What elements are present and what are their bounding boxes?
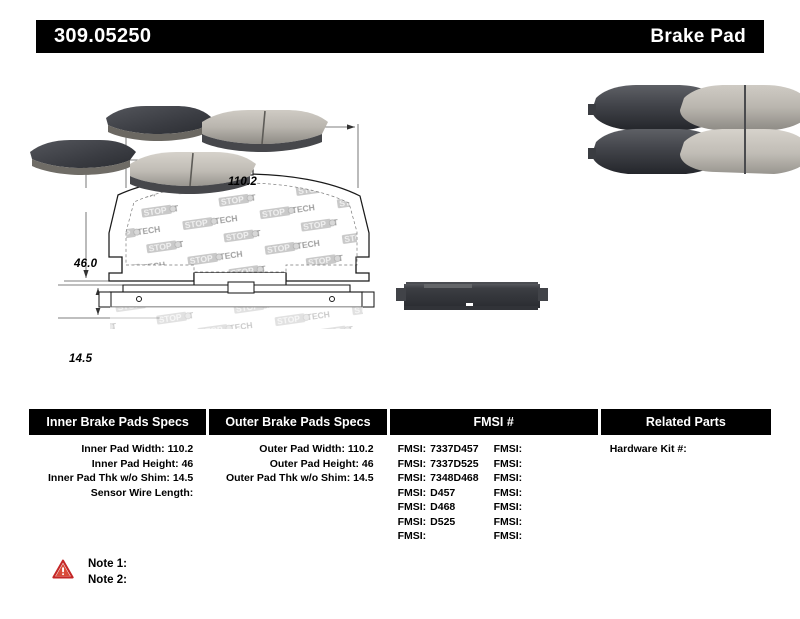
fmsi-value: D525: [426, 516, 455, 528]
fmsi-key: FMSI:: [398, 530, 427, 542]
fmsi-value: 7337D525: [426, 458, 478, 470]
fmsi-key: FMSI:: [494, 443, 523, 455]
fmsi-value: [426, 530, 430, 542]
product-type-label: Brake Pad: [650, 26, 746, 48]
spec-line: Sensor Wire Length:: [29, 486, 206, 501]
fmsi-value: [522, 458, 526, 470]
fmsi-key: FMSI:: [494, 472, 523, 484]
dimension-label-thickness: 14.5: [69, 353, 92, 365]
fmsi-key: FMSI:: [398, 516, 427, 528]
fmsi-column-left: FMSI:7337D457 FMSI:7337D525 FMSI:7348D46…: [398, 442, 494, 544]
spec-line: Inner Pad Thk w/o Shim: 14.5: [29, 471, 206, 486]
fmsi-key: FMSI:: [398, 458, 427, 470]
fmsi-value: [522, 530, 526, 542]
fmsi-value: D468: [426, 501, 455, 513]
note-line: Note 1:: [88, 556, 127, 572]
fmsi-key: FMSI:: [398, 487, 427, 499]
drawing-svg: STOP TECH STOP TE: [0, 60, 800, 390]
outer-specs-cell: Outer Pad Width: 110.2 Outer Pad Height:…: [209, 442, 386, 544]
fmsi-key: FMSI:: [398, 443, 427, 455]
notes-section: Note 1: Note 2:: [52, 556, 127, 588]
technical-drawing-area: STOP TECH STOP TE: [0, 60, 800, 390]
fmsi-value: 7337D457: [426, 443, 478, 455]
fmsi-entry: FMSI:7337D457: [398, 442, 494, 457]
fmsi-key: FMSI:: [494, 516, 523, 528]
spec-line: Outer Pad Width: 110.2: [209, 442, 386, 457]
spec-line: Outer Pad Thk w/o Shim: 14.5: [209, 471, 386, 486]
fmsi-key: FMSI:: [494, 530, 523, 542]
fmsi-entry: FMSI:: [494, 486, 590, 501]
fmsi-value: [522, 516, 526, 528]
fmsi-key: FMSI:: [398, 472, 427, 484]
related-parts-cell: Hardware Kit #:: [601, 442, 771, 544]
spec-line: Inner Pad Width: 110.2: [29, 442, 206, 457]
table-body: Inner Pad Width: 110.2 Inner Pad Height:…: [29, 435, 771, 544]
specifications-table: Inner Brake Pads Specs Outer Brake Pads …: [29, 409, 771, 544]
fmsi-entry: FMSI:7348D468: [398, 471, 494, 486]
column-header-inner-specs: Inner Brake Pads Specs: [29, 409, 206, 435]
inner-specs-cell: Inner Pad Width: 110.2 Inner Pad Height:…: [29, 442, 206, 544]
fmsi-value: [522, 487, 526, 499]
column-header-fmsi: FMSI #: [390, 409, 598, 435]
warning-triangle-icon: [52, 559, 74, 579]
fmsi-entry: FMSI:: [494, 457, 590, 472]
fmsi-key: FMSI:: [494, 501, 523, 513]
note-line: Note 2:: [88, 572, 127, 588]
table-header-row: Inner Brake Pads Specs Outer Brake Pads …: [29, 409, 771, 435]
fmsi-entry: FMSI:: [494, 442, 590, 457]
fmsi-entry: FMSI:: [494, 529, 590, 544]
dimension-label-width: 110.2: [228, 176, 257, 188]
fmsi-entry: FMSI:D468: [398, 500, 494, 515]
hardware-kit-line: Hardware Kit #:: [601, 442, 771, 457]
fmsi-value: [522, 472, 526, 484]
fmsi-entry: FMSI:D457: [398, 486, 494, 501]
spec-line: Outer Pad Height: 46: [209, 457, 386, 472]
fmsi-entry: FMSI:D525: [398, 515, 494, 530]
column-header-outer-specs: Outer Brake Pads Specs: [209, 409, 386, 435]
photo-pads-topdown-group: [588, 85, 800, 174]
dimension-label-height: 46.0: [74, 258, 97, 270]
fmsi-entry: FMSI:: [398, 529, 494, 544]
fmsi-entry: FMSI:: [494, 515, 590, 530]
fmsi-entry: FMSI:: [494, 500, 590, 515]
fmsi-entry: FMSI:7337D525: [398, 457, 494, 472]
part-number: 309.05250: [54, 25, 151, 48]
pad-side-view: [99, 282, 374, 329]
fmsi-value: 7348D468: [426, 472, 478, 484]
fmsi-column-right: FMSI: FMSI: FMSI: FMSI: FMSI: FMSI: FMSI…: [494, 442, 590, 544]
fmsi-value: D457: [426, 487, 455, 499]
fmsi-entry: FMSI:: [494, 471, 590, 486]
fmsi-key: FMSI:: [398, 501, 427, 513]
fmsi-key: FMSI:: [494, 458, 523, 470]
header-bar: 309.05250 Brake Pad: [36, 20, 764, 53]
fmsi-value: [522, 501, 526, 513]
fmsi-value: [522, 443, 526, 455]
spec-line: Inner Pad Height: 46: [29, 457, 206, 472]
fmsi-cell: FMSI:7337D457 FMSI:7337D525 FMSI:7348D46…: [390, 442, 598, 544]
notes-text-block: Note 1: Note 2:: [88, 556, 127, 588]
fmsi-key: FMSI:: [494, 487, 523, 499]
column-header-related-parts: Related Parts: [601, 409, 771, 435]
photo-pad-edge-profile: [396, 282, 548, 312]
